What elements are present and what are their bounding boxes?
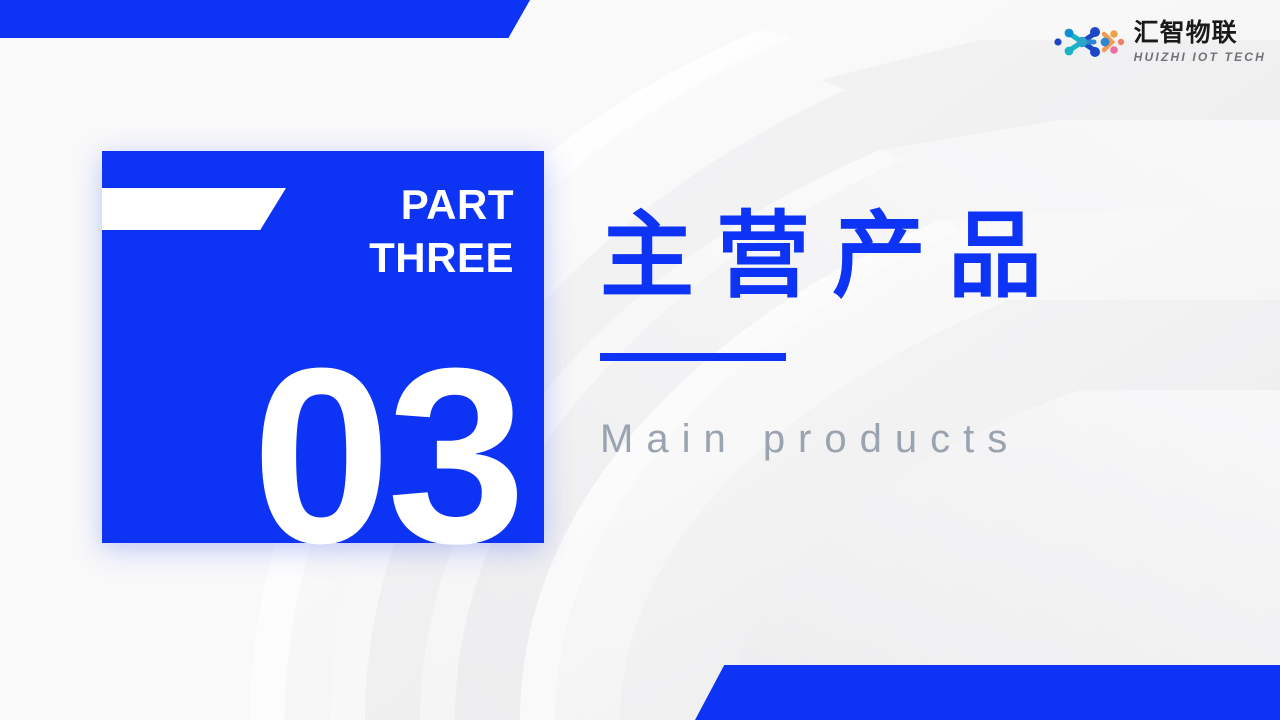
top-left-accent-bar: [0, 0, 530, 38]
section-title-chinese: 主营产品: [600, 205, 1240, 307]
section-title-english: Main products: [600, 417, 1240, 462]
title-divider-rule: [600, 353, 786, 361]
white-slash-decoration: [102, 188, 286, 230]
part-number-card: PART THREE 03: [102, 151, 544, 543]
logo-text-block: 汇智物联 HUIZHI IOT TECH: [1134, 21, 1266, 63]
title-block: 主营产品 Main products: [600, 205, 1240, 462]
slide-root: PART THREE 03 主营产品 Main products: [0, 0, 1280, 720]
bottom-right-accent-bar: [695, 665, 1280, 720]
company-logo: 汇智物联 HUIZHI IOT TECH: [1048, 20, 1266, 64]
part-label: PART THREE: [264, 179, 514, 285]
company-name-chinese: 汇智物联: [1134, 21, 1266, 46]
molecule-network-icon: [1048, 20, 1126, 64]
part-number: 03: [252, 331, 522, 581]
company-name-english: HUIZHI IOT TECH: [1134, 51, 1266, 63]
